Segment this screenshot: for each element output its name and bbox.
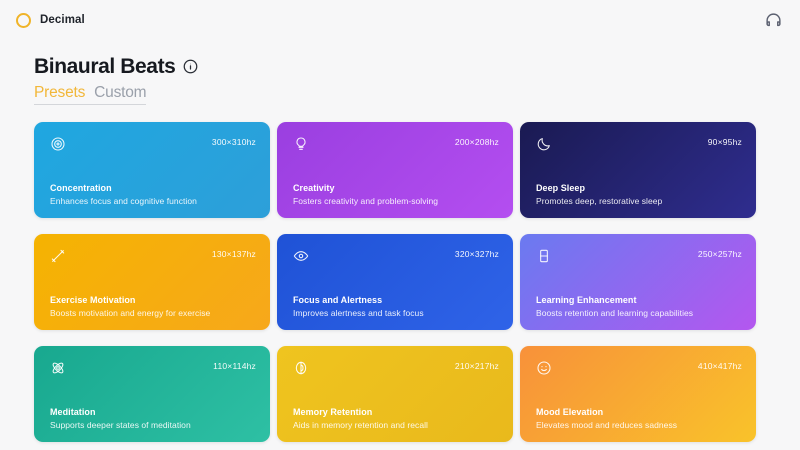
preset-card-body: Deep SleepPromotes deep, restorative sle… [536, 183, 742, 206]
preset-card[interactable]: 90×95hzDeep SleepPromotes deep, restorat… [520, 122, 756, 218]
brand-name: Decimal [40, 14, 85, 26]
decimal-circle-icon [16, 13, 31, 28]
moon-icon [536, 136, 552, 152]
info-circle-icon[interactable] [183, 59, 198, 74]
preset-card[interactable]: 300×310hzConcentrationEnhances focus and… [34, 122, 270, 218]
preset-card-body: CreativityFosters creativity and problem… [293, 183, 499, 206]
preset-frequency: 210×217hz [455, 360, 499, 371]
lightbulb-icon [293, 136, 309, 152]
preset-grid: 300×310hzConcentrationEnhances focus and… [34, 122, 756, 442]
preset-card-top: 110×114hz [50, 360, 256, 376]
preset-frequency: 130×137hz [212, 248, 256, 259]
preset-title: Memory Retention [293, 407, 499, 417]
preset-title: Mood Elevation [536, 407, 742, 417]
preset-card-body: Exercise MotivationBoosts motivation and… [50, 295, 256, 318]
preset-card-top: 250×257hz [536, 248, 742, 264]
preset-card-body: Mood ElevationElevates mood and reduces … [536, 407, 742, 430]
preset-card-top: 320×327hz [293, 248, 499, 264]
tab-presets[interactable]: Presets [34, 84, 85, 102]
preset-frequency: 410×417hz [698, 360, 742, 371]
preset-description: Improves alertness and task focus [293, 308, 499, 318]
preset-card-top: 300×310hz [50, 136, 256, 152]
preset-title: Exercise Motivation [50, 295, 256, 305]
page-title: Binaural Beats [34, 56, 175, 77]
preset-frequency: 300×310hz [212, 136, 256, 147]
page-title-row: Binaural Beats [34, 56, 198, 77]
brain-icon [293, 360, 309, 376]
preset-description: Enhances focus and cognitive function [50, 196, 256, 206]
preset-card-body: Memory RetentionAids in memory retention… [293, 407, 499, 430]
preset-title: Learning Enhancement [536, 295, 742, 305]
preset-description: Aids in memory retention and recall [293, 420, 499, 430]
view-mode-tabs: Presets Custom [34, 84, 146, 105]
preset-card[interactable]: 250×257hzLearning EnhancementBoosts rete… [520, 234, 756, 330]
preset-description: Boosts retention and learning capabiliti… [536, 308, 742, 318]
eye-icon [293, 248, 309, 264]
smiley-icon [536, 360, 552, 376]
preset-frequency: 250×257hz [698, 248, 742, 259]
preset-card-top: 410×417hz [536, 360, 742, 376]
preset-card-top: 90×95hz [536, 136, 742, 152]
preset-card[interactable]: 110×114hzMeditationSupports deeper state… [34, 346, 270, 442]
preset-title: Meditation [50, 407, 256, 417]
preset-frequency: 200×208hz [455, 136, 499, 147]
preset-card-body: Focus and AlertnessImproves alertness an… [293, 295, 499, 318]
preset-title: Deep Sleep [536, 183, 742, 193]
app-root: Decimal Binaural Beats Presets [0, 0, 800, 450]
tab-custom[interactable]: Custom [94, 84, 146, 102]
book-icon [536, 248, 552, 264]
preset-card-top: 130×137hz [50, 248, 256, 264]
preset-card[interactable]: 320×327hzFocus and AlertnessImproves ale… [277, 234, 513, 330]
preset-frequency: 90×95hz [708, 136, 742, 147]
preset-title: Creativity [293, 183, 499, 193]
preset-card[interactable]: 210×217hzMemory RetentionAids in memory … [277, 346, 513, 442]
preset-card-top: 210×217hz [293, 360, 499, 376]
brand-logo[interactable]: Decimal [16, 13, 85, 28]
preset-description: Promotes deep, restorative sleep [536, 196, 742, 206]
preset-description: Fosters creativity and problem-solving [293, 196, 499, 206]
target-icon [50, 136, 66, 152]
preset-frequency: 320×327hz [455, 248, 499, 259]
preset-frequency: 110×114hz [213, 360, 256, 371]
page-heading: Binaural Beats Presets Custom [34, 56, 198, 105]
preset-description: Supports deeper states of meditation [50, 420, 256, 430]
preset-card[interactable]: 410×417hzMood ElevationElevates mood and… [520, 346, 756, 442]
dumbbell-icon [50, 248, 66, 264]
preset-description: Elevates mood and reduces sadness [536, 420, 742, 430]
preset-card-body: ConcentrationEnhances focus and cognitiv… [50, 183, 256, 206]
preset-description: Boosts motivation and energy for exercis… [50, 308, 256, 318]
top-bar: Decimal [0, 0, 800, 40]
preset-card[interactable]: 130×137hzExercise MotivationBoosts motiv… [34, 234, 270, 330]
preset-card-body: MeditationSupports deeper states of medi… [50, 407, 256, 430]
atom-icon [50, 360, 66, 376]
preset-card-body: Learning EnhancementBoosts retention and… [536, 295, 742, 318]
preset-title: Concentration [50, 183, 256, 193]
headphones-icon[interactable] [765, 12, 782, 29]
preset-card[interactable]: 200×208hzCreativityFosters creativity an… [277, 122, 513, 218]
preset-title: Focus and Alertness [293, 295, 499, 305]
preset-card-top: 200×208hz [293, 136, 499, 152]
